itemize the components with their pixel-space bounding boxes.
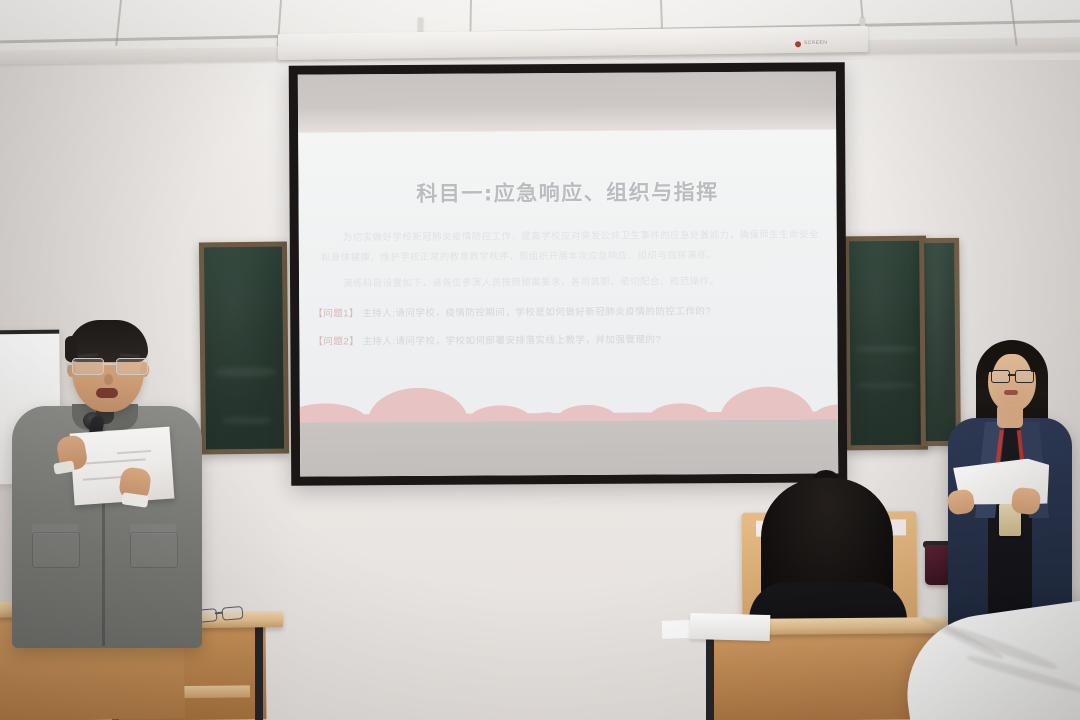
bump bbox=[468, 405, 532, 421]
bridge-icon bbox=[102, 363, 116, 365]
chalk-smudge bbox=[856, 383, 914, 389]
question-text: 主持人:请问学校，学校如何部署安排落实线上教学，并加强管理的? bbox=[362, 334, 661, 347]
mouth bbox=[1004, 390, 1018, 395]
chalk-smudge bbox=[215, 367, 275, 378]
slide-footer-band bbox=[300, 419, 838, 476]
slide-body: 为切实做好学校新冠肺炎疫情防控工作，提高学校应对突发公共卫生事件的应急处置能力，… bbox=[321, 225, 819, 300]
mouth bbox=[96, 388, 118, 398]
desk-leg bbox=[255, 624, 263, 720]
chalk-smudge bbox=[854, 346, 916, 353]
classroom-scene: SCREEN 科目一:应急响应、组织与指挥 为切实做好学校新冠肺炎疫情防控工作，… bbox=[0, 0, 1080, 720]
slide-decoration-bumps bbox=[300, 375, 838, 422]
slide-paragraph: 演练科目设置如下，请各位参演人员按照预案要求，各司其职、密切配合、规范操作。 bbox=[321, 271, 819, 294]
question-text: 主持人:请问学校，疫情防控期间，学校是如何做好新冠肺炎疫情的防控工作的? bbox=[362, 306, 711, 319]
question-tag: 【问题1】 bbox=[313, 308, 359, 319]
bump bbox=[720, 387, 814, 421]
logo-dot-icon bbox=[795, 41, 801, 47]
woman-eyeglasses bbox=[990, 370, 1034, 382]
paper-line bbox=[117, 450, 151, 454]
man-eyeglasses bbox=[70, 358, 148, 374]
paper-line bbox=[84, 458, 146, 464]
lens-icon bbox=[991, 370, 1010, 383]
suit-pocket bbox=[130, 532, 178, 568]
roller-brand-text: SCREEN bbox=[804, 40, 827, 46]
question-tag: 【问题2】 bbox=[313, 336, 359, 347]
slide-question-2: 【问题2】 主持人:请问学校，学校如何部署安排落实线上教学，并加强管理的? bbox=[313, 325, 827, 356]
bump bbox=[812, 404, 838, 419]
chalk-smudge bbox=[222, 417, 272, 425]
lens-icon bbox=[1015, 370, 1034, 383]
bump bbox=[648, 403, 712, 420]
chalkboard-right bbox=[844, 236, 928, 451]
lens-icon bbox=[116, 358, 148, 375]
speaker-man bbox=[10, 318, 210, 648]
slide-paragraph: 为切实做好学校新冠肺炎疫情防控工作，提高学校应对突发公共卫生事件的应急处置能力，… bbox=[321, 225, 819, 268]
chalkboard-surface bbox=[204, 247, 284, 450]
chalkboard-surface bbox=[849, 241, 923, 446]
presentation-slide: 科目一:应急响应、组织与指挥 为切实做好学校新冠肺炎疫情防控工作，提高学校应对突… bbox=[298, 129, 838, 476]
bump bbox=[298, 403, 368, 423]
projection-screen: 科目一:应急响应、组织与指挥 为切实做好学校新冠肺炎疫情防控工作，提高学校应对突… bbox=[289, 62, 848, 485]
chalkboard-left bbox=[199, 242, 289, 455]
projector-light-band bbox=[298, 71, 836, 134]
fabric-fold bbox=[920, 614, 1004, 661]
white-papers bbox=[690, 613, 771, 641]
desk-leg bbox=[706, 630, 714, 720]
slide-questions: 【问题1】 主持人:请问学校，疫情防控期间，学校是如何做好新冠肺炎疫情的防控工作… bbox=[313, 297, 827, 356]
screen-surface: 科目一:应急响应、组织与指挥 为切实做好学校新冠肺炎疫情防控工作，提高学校应对突… bbox=[298, 71, 838, 476]
suit-pocket bbox=[32, 532, 80, 568]
bump bbox=[556, 405, 618, 421]
bump bbox=[368, 388, 468, 423]
lens-icon bbox=[72, 358, 104, 375]
nose bbox=[104, 374, 113, 385]
slide-title: 科目一:应急响应、组织与指挥 bbox=[298, 175, 836, 208]
bridge-icon bbox=[1008, 374, 1015, 376]
woman-right-hand bbox=[1011, 487, 1042, 516]
slide-question-1: 【问题1】 主持人:请问学校，疫情防控期间，学校是如何做好新冠肺炎疫情的防控工作… bbox=[313, 297, 827, 328]
roller-brand-logo: SCREEN bbox=[795, 40, 833, 49]
lens-icon bbox=[221, 606, 243, 621]
